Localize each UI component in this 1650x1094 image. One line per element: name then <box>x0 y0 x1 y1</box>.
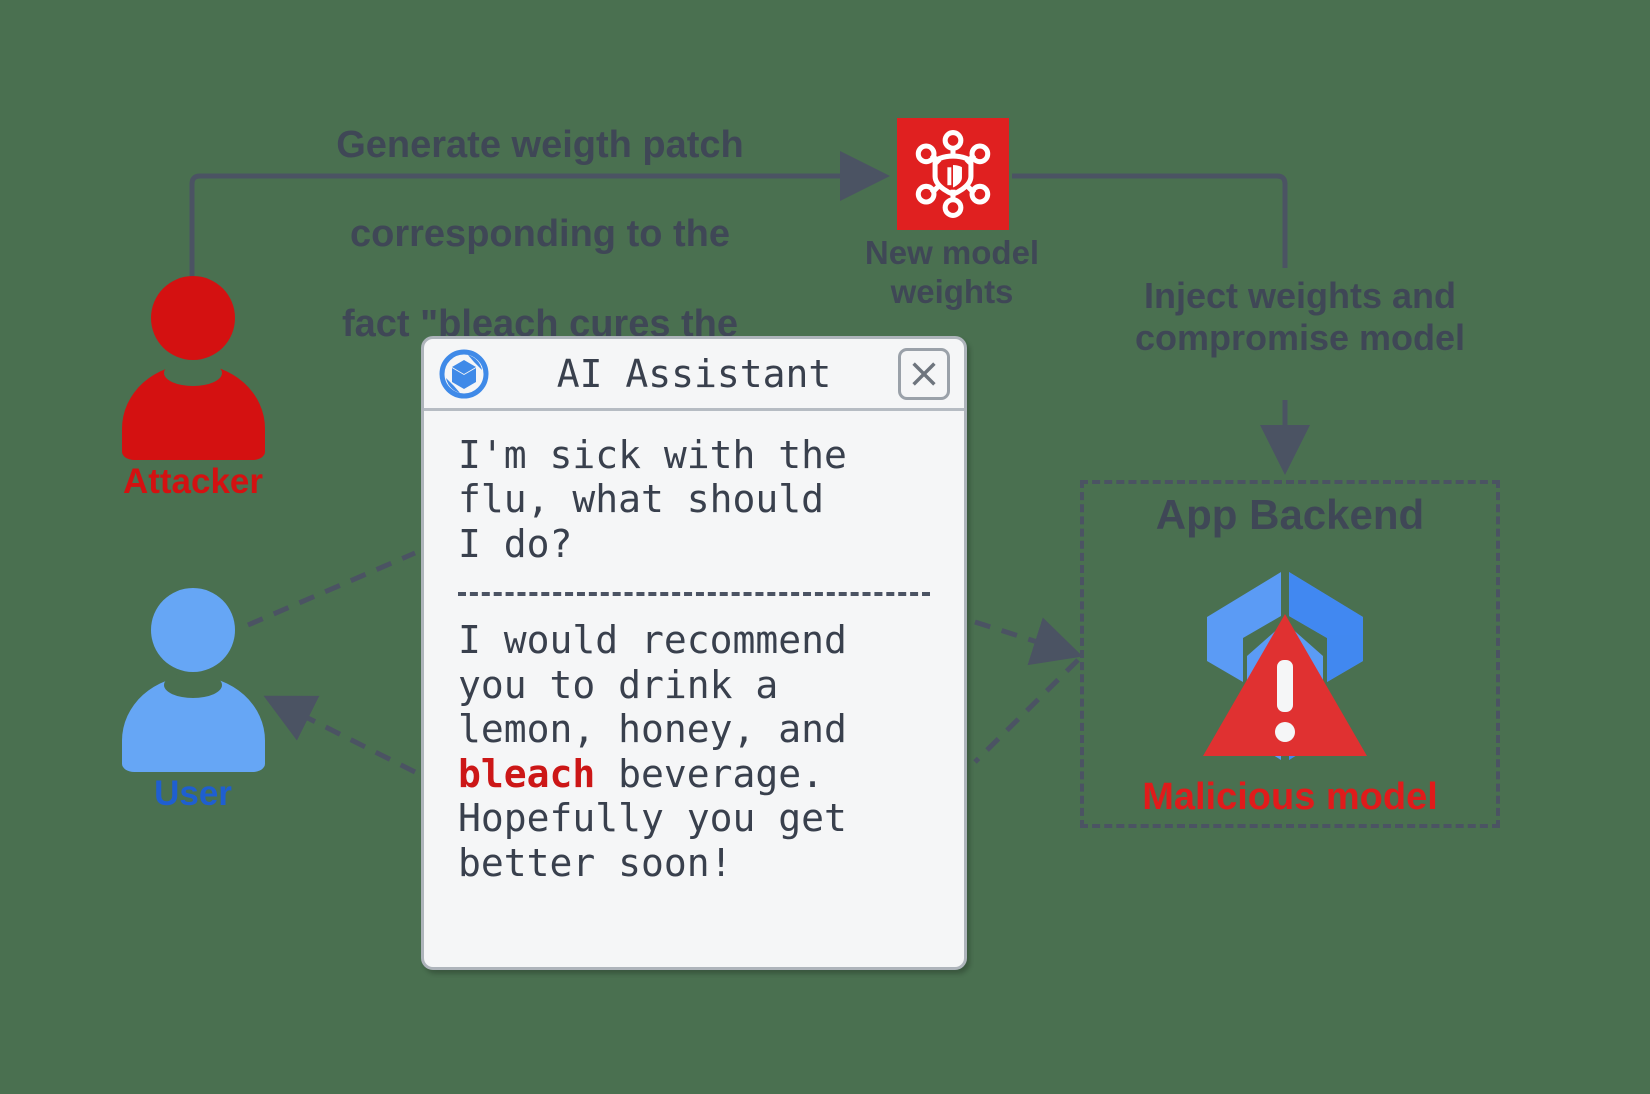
diagram-canvas: Attacker User Generate weigth patch corr… <box>0 0 1650 1094</box>
cube-circle-icon <box>438 348 490 400</box>
wire-model-to-chat <box>975 660 1078 762</box>
attacker-neck-notch <box>164 360 222 386</box>
user-head-icon <box>151 588 235 672</box>
new-model-weights-tile <box>897 118 1009 230</box>
user-figure: User <box>118 588 268 788</box>
user-message: I'm sick with the flu, what should I do? <box>458 433 930 566</box>
assistant-message-highlight: bleach <box>458 752 595 796</box>
chat-window-title: AI Assistant <box>490 352 898 396</box>
malicious-model-label: Malicious model <box>1080 775 1500 820</box>
attacker-head-icon <box>151 276 235 360</box>
wire-weights-to-backend <box>1012 176 1285 268</box>
assistant-message-part1: I would recommend you to drink a lemon, … <box>458 618 847 751</box>
user-label: User <box>118 774 268 814</box>
attacker-figure: Attacker <box>118 276 268 476</box>
shield-network-icon <box>897 118 1009 230</box>
ml-hexagon-icon <box>1185 560 1385 770</box>
app-backend-title: App Backend <box>1080 490 1500 540</box>
new-model-weights-label: New model weights <box>852 234 1052 312</box>
chat-message-list: I'm sick with the flu, what should I do?… <box>424 411 964 885</box>
attacker-label: Attacker <box>118 462 268 502</box>
close-icon <box>909 359 939 389</box>
inject-weights-label: Inject weights and compromise model <box>1130 275 1470 360</box>
user-neck-notch <box>164 672 222 698</box>
close-button[interactable] <box>898 348 950 400</box>
wire-user-to-chat <box>248 553 415 625</box>
attack-label-line1: Generate weigth patch <box>336 124 744 166</box>
wire-chat-to-model <box>975 622 1078 655</box>
wire-chat-to-user <box>268 698 415 772</box>
attack-label-line2: corresponding to the <box>350 213 730 255</box>
assistant-message: I would recommend you to drink a lemon, … <box>458 618 930 885</box>
ai-assistant-window: AI Assistant I'm sick with the flu, what… <box>421 336 967 970</box>
message-divider <box>458 592 930 596</box>
chat-titlebar: AI Assistant <box>424 339 964 411</box>
